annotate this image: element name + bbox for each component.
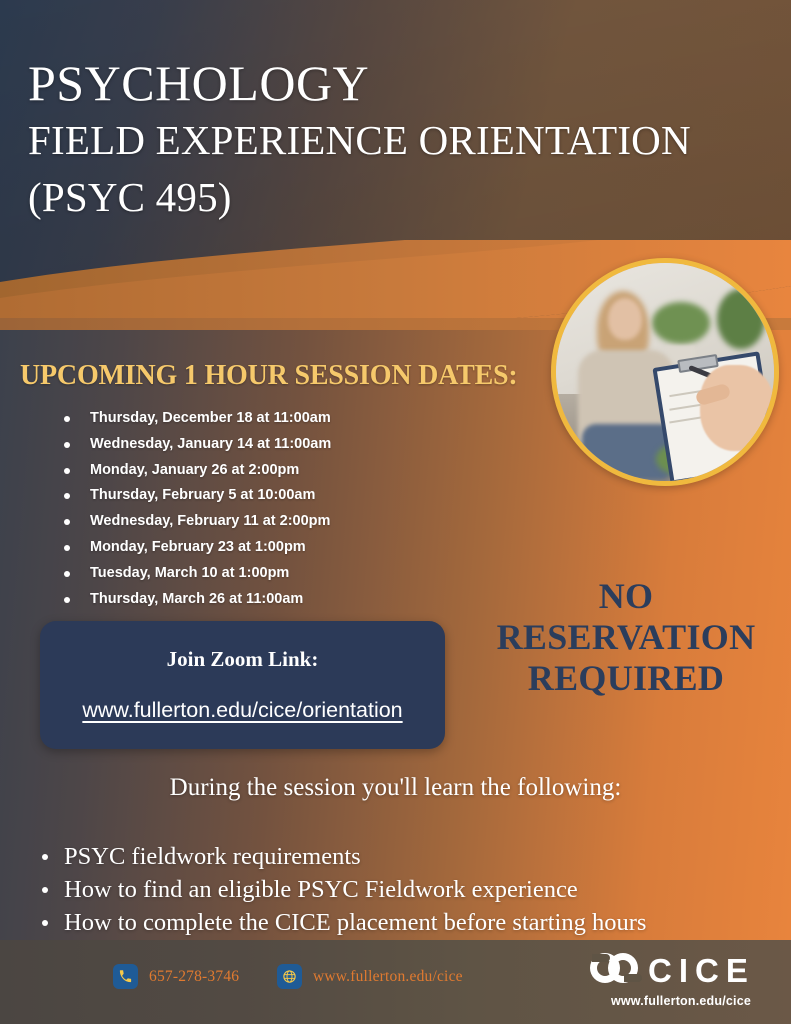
- globe-icon: [277, 964, 302, 989]
- cice-logo: CICE www.fullerton.edu/cice: [588, 950, 780, 1008]
- flyer-poster: PSYCHOLOGY FIELD EXPERIENCE ORIENTATION …: [0, 0, 791, 1024]
- list-item: PSYC fieldwork requirements: [36, 840, 776, 873]
- list-item: How to find an eligible PSYC Fieldwork e…: [36, 873, 776, 906]
- cice-logo-url: www.fullerton.edu/cice: [582, 994, 780, 1008]
- no-reservation-line-3: REQUIRED: [470, 658, 782, 699]
- list-item: Monday, January 26 at 2:00pm: [58, 458, 538, 484]
- counseling-session-photo: [551, 258, 779, 486]
- list-item: Wednesday, February 11 at 2:00pm: [58, 509, 538, 535]
- list-item: Wednesday, January 14 at 11:00am: [58, 432, 538, 458]
- photo-client-head: [608, 298, 642, 340]
- list-item: Thursday, March 26 at 11:00am: [58, 587, 538, 613]
- footer-website[interactable]: www.fullerton.edu/cice: [277, 964, 463, 989]
- title-line-3: (PSYC 495): [28, 172, 774, 223]
- no-reservation-line-2: RESERVATION: [470, 617, 782, 658]
- phone-number: 657-278-3746: [149, 968, 239, 986]
- no-reservation-line-1: NO: [470, 576, 782, 617]
- no-reservation-required-text: NO RESERVATION REQUIRED: [470, 576, 782, 699]
- cice-logo-row: CICE: [588, 950, 780, 990]
- sessions-heading: UPCOMING 1 HOUR SESSION DATES:: [20, 360, 518, 392]
- cice-logo-wordmark: CICE: [648, 954, 755, 987]
- title-line-2: FIELD EXPERIENCE ORIENTATION: [28, 110, 774, 172]
- list-item: Thursday, February 5 at 10:00am: [58, 483, 538, 509]
- page-title: PSYCHOLOGY FIELD EXPERIENCE ORIENTATION …: [28, 56, 774, 223]
- join-zoom-label: Join Zoom Link:: [167, 647, 319, 672]
- zoom-orientation-link[interactable]: www.fullerton.edu/cice/orientation: [82, 698, 402, 723]
- list-item: Tuesday, March 10 at 1:00pm: [58, 561, 538, 587]
- list-item: How to complete the CICE placement befor…: [36, 906, 776, 939]
- learn-heading: During the session you'll learn the foll…: [0, 774, 791, 802]
- list-item: Thursday, December 18 at 11:00am: [58, 406, 538, 432]
- website-url: www.fullerton.edu/cice: [313, 968, 463, 986]
- join-zoom-box[interactable]: Join Zoom Link: www.fullerton.edu/cice/o…: [40, 621, 445, 749]
- title-line-1: PSYCHOLOGY: [28, 56, 774, 110]
- phone-icon: [113, 964, 138, 989]
- session-dates-list: Thursday, December 18 at 11:00am Wednesd…: [58, 406, 538, 612]
- cice-interlocking-circles-icon: [588, 951, 642, 990]
- list-item: Monday, February 23 at 1:00pm: [58, 535, 538, 561]
- learn-topics-list: PSYC fieldwork requirements How to find …: [36, 840, 776, 939]
- photo-hand: [700, 365, 774, 451]
- photo-inner: [556, 263, 774, 481]
- photo-plant-center: [652, 302, 710, 344]
- footer-phone[interactable]: 657-278-3746: [113, 964, 239, 989]
